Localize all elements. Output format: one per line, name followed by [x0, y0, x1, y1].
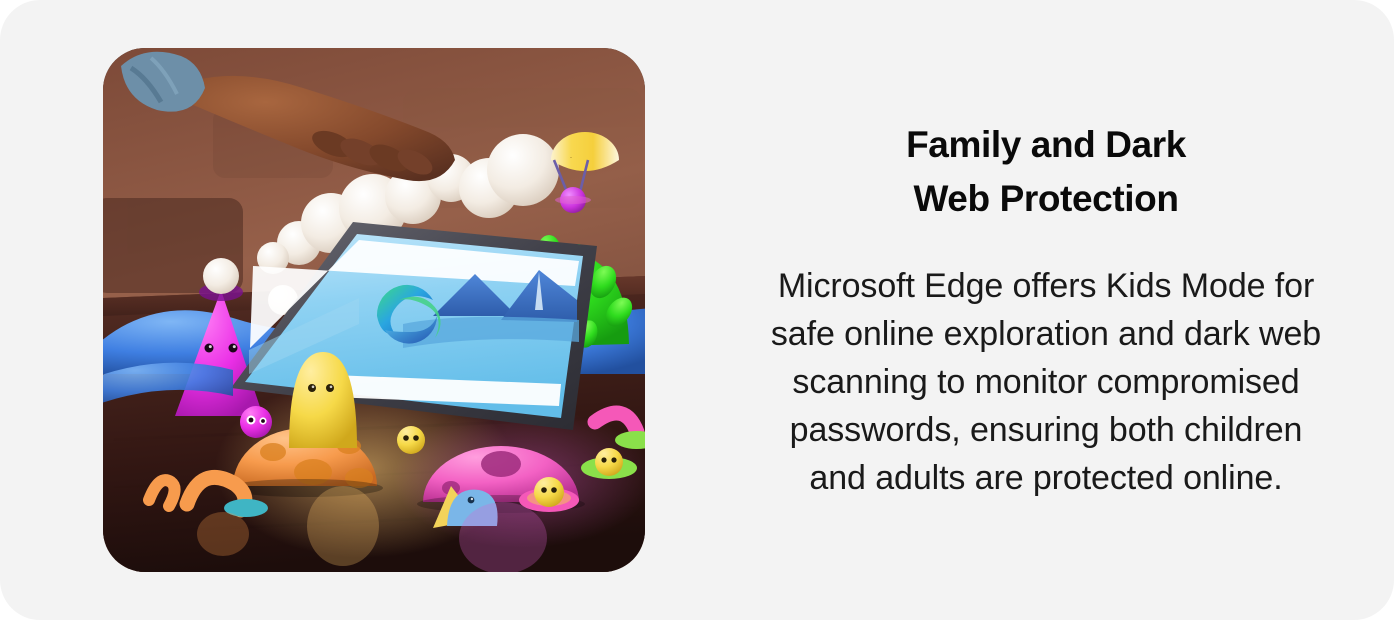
claymation-scene-svg — [103, 48, 645, 572]
magenta-ball-creature — [240, 406, 272, 438]
feature-card: Family and Dark Web Protection Microsoft… — [0, 0, 1394, 620]
feature-illustration — [103, 48, 645, 572]
feature-description: Microsoft Edge offers Kids Mode for safe… — [766, 262, 1326, 502]
page-title: Family and Dark Web Protection — [906, 118, 1186, 226]
cone-top-ball — [203, 258, 239, 294]
feature-text-column: Family and Dark Web Protection Microsoft… — [716, 48, 1376, 572]
yellow-ball-creature-a — [397, 426, 425, 454]
